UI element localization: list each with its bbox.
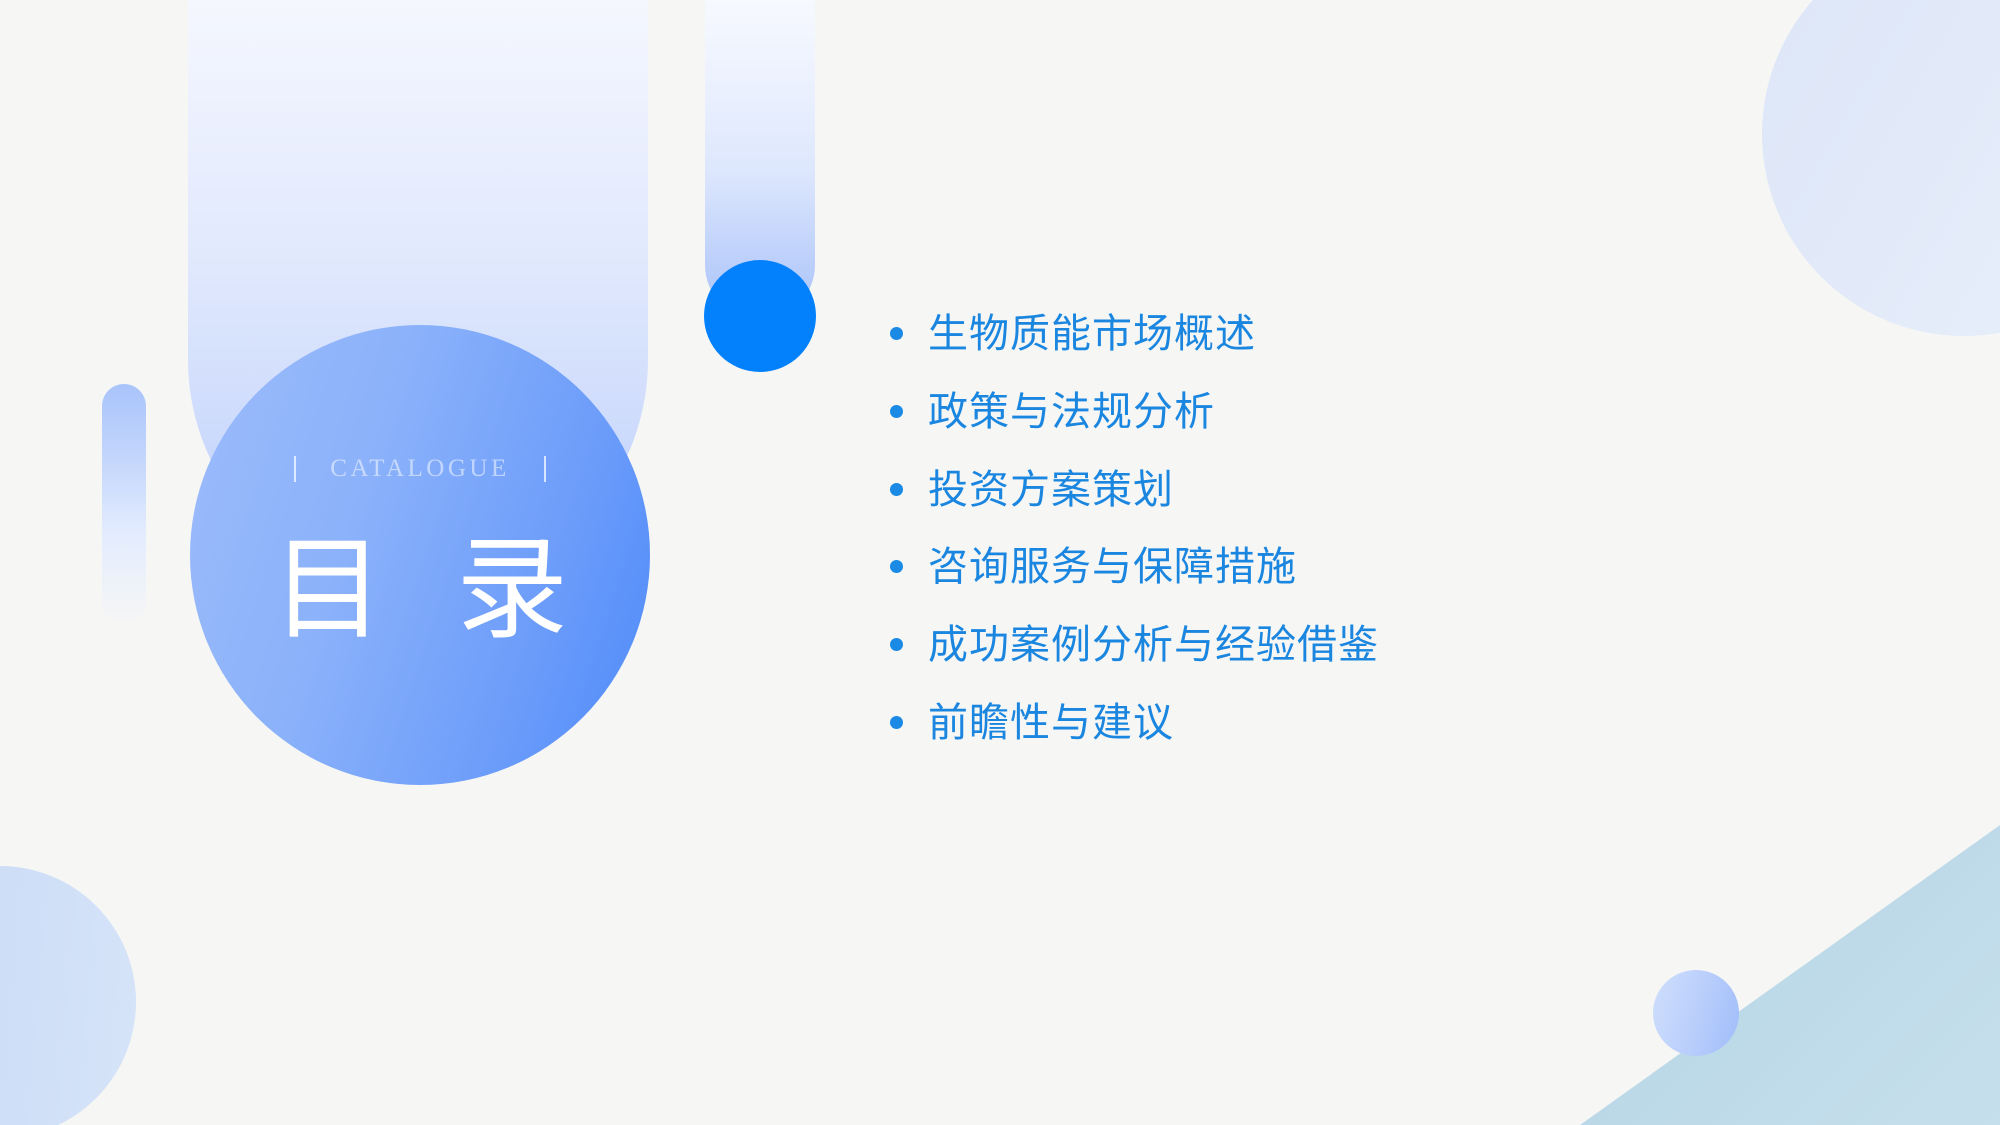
- catalogue-circle: CATALOGUE 目 录: [190, 325, 650, 785]
- bullet-dot-icon: [890, 483, 903, 496]
- decoration-dot-bottom-right: [1653, 970, 1739, 1056]
- decoration-circle-top-right: [1762, 0, 2000, 336]
- decoration-solid-blue-dot: [704, 260, 816, 372]
- list-item[interactable]: 投资方案策划: [890, 468, 1610, 513]
- catalogue-eyebrow-text: CATALOGUE: [330, 455, 510, 483]
- list-item[interactable]: 政策与法规分析: [890, 390, 1610, 435]
- catalogue-eyebrow: CATALOGUE: [294, 455, 546, 483]
- agenda-item-label: 生物质能市场概述: [928, 312, 1256, 357]
- list-item[interactable]: 生物质能市场概述: [890, 312, 1610, 357]
- slide-canvas: CATALOGUE 目 录 生物质能市场概述 政策与法规分析 投资方案策划 咨询…: [0, 0, 2000, 1125]
- bullet-dot-icon: [890, 716, 903, 729]
- agenda-item-label: 成功案例分析与经验借鉴: [928, 623, 1379, 668]
- agenda-item-label: 投资方案策划: [928, 468, 1174, 513]
- bullet-dot-icon: [890, 327, 903, 340]
- list-item[interactable]: 前瞻性与建议: [890, 701, 1610, 746]
- decoration-circle-bottom-left: [0, 866, 136, 1125]
- bullet-dot-icon: [890, 638, 903, 651]
- tick-right-icon: [544, 456, 546, 482]
- catalogue-title: 目 录: [250, 535, 590, 647]
- agenda-item-label: 前瞻性与建议: [928, 701, 1174, 746]
- bullet-dot-icon: [890, 405, 903, 418]
- bullet-dot-icon: [890, 560, 903, 573]
- decoration-triangle-bottom-right: [1580, 825, 2000, 1125]
- decoration-pill-left: [102, 384, 146, 624]
- tick-left-icon: [294, 456, 296, 482]
- agenda-item-label: 咨询服务与保障措施: [928, 545, 1297, 590]
- agenda-list: 生物质能市场概述 政策与法规分析 投资方案策划 咨询服务与保障措施 成功案例分析…: [890, 312, 1610, 779]
- list-item[interactable]: 成功案例分析与经验借鉴: [890, 623, 1610, 668]
- agenda-item-label: 政策与法规分析: [928, 390, 1215, 435]
- list-item[interactable]: 咨询服务与保障措施: [890, 545, 1610, 590]
